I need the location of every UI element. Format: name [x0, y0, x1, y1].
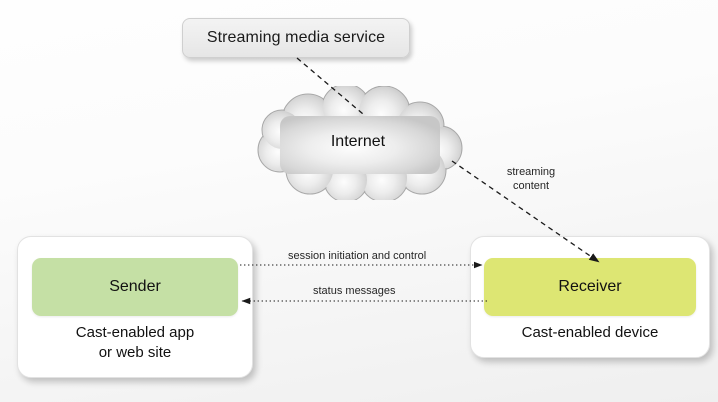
sender-chip[interactable]: Sender — [32, 258, 238, 316]
edge-label-status-messages: status messages — [313, 285, 396, 297]
receiver-chip[interactable]: Receiver — [484, 258, 696, 316]
receiver-role-label: Receiver — [558, 278, 621, 296]
node-streaming-media-service[interactable]: Streaming media service — [182, 18, 410, 58]
node-sender-card[interactable]: Sender Cast-enabled app or web site — [17, 236, 253, 378]
sender-caption: Cast-enabled app or web site — [76, 323, 194, 363]
diagram-canvas: Streaming media service — [0, 0, 718, 402]
node-receiver-card[interactable]: Receiver Cast-enabled device — [470, 236, 710, 358]
edge-label-streaming-content: streaming content — [496, 165, 566, 193]
receiver-caption: Cast-enabled device — [522, 323, 659, 343]
internet-cloud-label: Internet — [250, 133, 466, 151]
streaming-media-service-label: Streaming media service — [207, 29, 385, 47]
sender-role-label: Sender — [109, 278, 161, 296]
edge-label-session-initiation: session initiation and control — [288, 250, 426, 262]
